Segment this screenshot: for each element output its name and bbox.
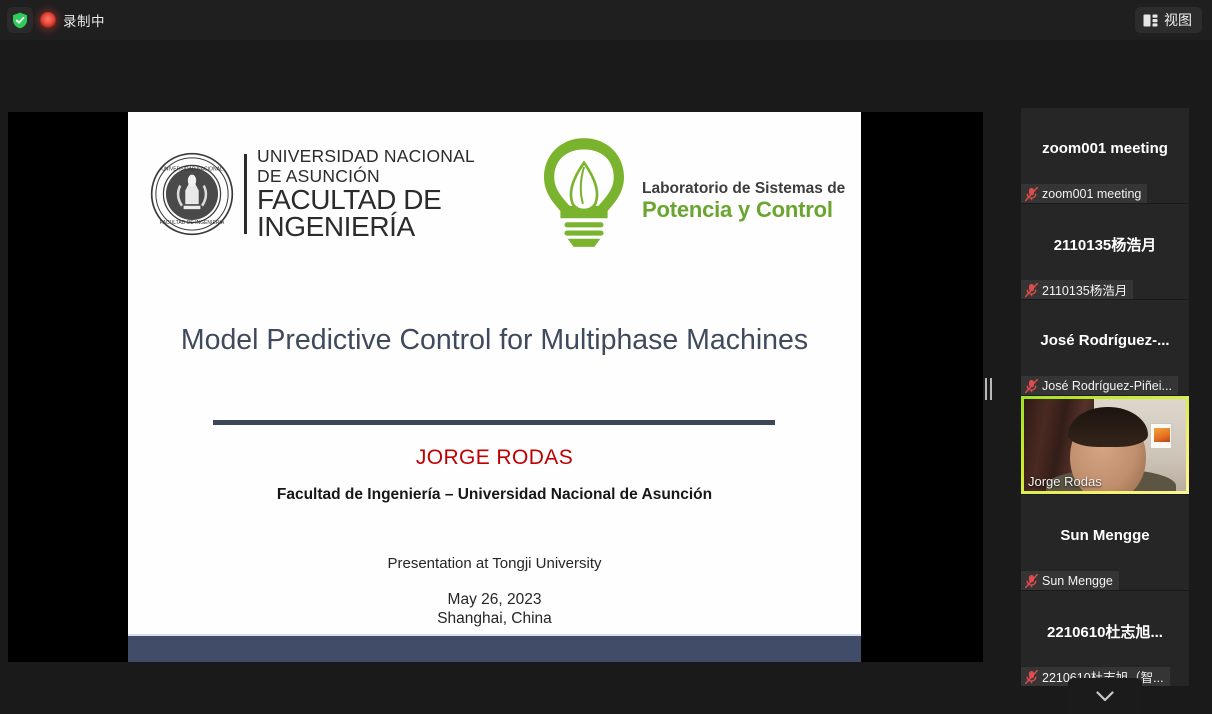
- una-logo-text: UNIVERSIDAD NACIONAL DE ASUNCIÓN FACULTA…: [257, 148, 475, 241]
- shared-screen-stage[interactable]: UNIVERSIDAD NACIONAL FACULTAD DE INGENIE…: [8, 112, 983, 662]
- participant-badge-label: José Rodríguez-Piñei...: [1042, 379, 1172, 393]
- slide-logo-row: UNIVERSIDAD NACIONAL FACULTAD DE INGENIE…: [128, 130, 861, 260]
- participant-tile[interactable]: zoom001 meetingzoom001 meeting: [1021, 108, 1189, 203]
- recording-dot-icon: [40, 12, 56, 28]
- participant-tile[interactable]: Sun MenggeSun Mengge: [1021, 495, 1189, 590]
- slide-affiliation: Facultad de Ingeniería – Universidad Nac…: [128, 486, 861, 504]
- slide-date: May 26, 2023 Shanghai, China: [128, 590, 861, 629]
- svg-text:UNIVERSIDAD NACIONAL: UNIVERSIDAD NACIONAL: [161, 167, 223, 173]
- lab-line-2: Potencia y Control: [642, 198, 845, 221]
- svg-text:FACULTAD DE INGENIERIA: FACULTAD DE INGENIERIA: [160, 221, 225, 227]
- lab-line-1: Laboratorio de Sistemas de: [642, 181, 845, 197]
- slide-date-line2: Shanghai, China: [437, 610, 552, 627]
- mic-off-icon: [1025, 379, 1038, 393]
- mic-off-icon: [1025, 187, 1038, 201]
- zoom-meeting-window: 录制中 视图: [0, 0, 1212, 714]
- drag-handle-icon: [985, 378, 987, 400]
- view-button-label: 视图: [1164, 10, 1192, 30]
- participant-badge-label: zoom001 meeting: [1042, 187, 1141, 201]
- drag-handle-icon: [990, 378, 992, 400]
- participant-tile[interactable]: 2210610杜志旭...2210610杜志旭（智...: [1021, 591, 1189, 686]
- security-shield-button[interactable]: [7, 7, 33, 33]
- lab-logo-text: Laboratorio de Sistemas de Potencia y Co…: [642, 161, 845, 220]
- chevron-down-icon: [1096, 691, 1114, 702]
- shield-check-icon: [12, 12, 28, 29]
- slide-venue: Presentation at Tongji University: [128, 555, 861, 572]
- slide-divider-rule: [213, 420, 775, 425]
- panel-splitter-handle[interactable]: [983, 378, 993, 400]
- participant-name-badge: Sun Mengge: [1021, 571, 1119, 590]
- mic-off-icon: [1025, 670, 1038, 684]
- recording-label: 录制中: [63, 10, 105, 30]
- una-logo: UNIVERSIDAD NACIONAL FACULTAD DE INGENIE…: [150, 148, 475, 241]
- una-line-3: FACULTAD DE: [257, 186, 475, 213]
- participant-tile[interactable]: José Rodríguez-...José Rodríguez-Piñei..…: [1021, 300, 1189, 395]
- recording-indicator[interactable]: 录制中: [40, 8, 105, 32]
- filmstrip-scroll-down-button[interactable]: [1068, 678, 1142, 714]
- una-line-2: DE ASUNCIÓN: [257, 168, 475, 186]
- mic-off-icon: [1025, 574, 1038, 588]
- mic-off-icon: [1025, 283, 1038, 297]
- participant-name-badge: José Rodríguez-Piñei...: [1021, 376, 1178, 395]
- slide-title: Model Predictive Control for Multiphase …: [128, 324, 861, 357]
- una-seal-icon: UNIVERSIDAD NACIONAL FACULTAD DE INGENIE…: [150, 152, 234, 236]
- participant-name-badge: Jorge Rodas: [1024, 472, 1108, 491]
- slide-author: JORGE RODAS: [128, 446, 861, 470]
- slide-date-line1: May 26, 2023: [448, 591, 542, 608]
- participant-video: Jorge Rodas: [1024, 399, 1186, 491]
- una-line-1: UNIVERSIDAD NACIONAL: [257, 148, 475, 166]
- view-button[interactable]: 视图: [1135, 7, 1202, 33]
- participant-name-badge: zoom001 meeting: [1021, 184, 1147, 203]
- lab-logo: Laboratorio de Sistemas de Potencia y Co…: [532, 132, 845, 250]
- participant-badge-label: Sun Mengge: [1042, 574, 1113, 588]
- lightbulb-leaf-icon: [532, 132, 636, 250]
- participant-tile[interactable]: 2110135杨浩月2110135杨浩月: [1021, 204, 1189, 299]
- participant-filmstrip[interactable]: zoom001 meetingzoom001 meeting2110135杨浩月…: [1021, 108, 1189, 714]
- slide-footer-bar: [128, 636, 861, 662]
- layout-view-icon: [1143, 14, 1158, 27]
- top-bar: 录制中 视图: [0, 0, 1212, 40]
- participant-name-badge: 2110135杨浩月: [1021, 280, 1133, 299]
- participant-tile[interactable]: Jorge Rodas: [1021, 396, 1189, 494]
- wall-picture-frame: [1150, 423, 1172, 449]
- presentation-slide: UNIVERSIDAD NACIONAL FACULTAD DE INGENIE…: [128, 112, 861, 662]
- participant-badge-label: Jorge Rodas: [1028, 474, 1102, 489]
- una-logo-divider: [244, 154, 247, 234]
- una-line-4: INGENIERÍA: [257, 213, 475, 240]
- participant-badge-label: 2110135杨浩月: [1042, 280, 1127, 299]
